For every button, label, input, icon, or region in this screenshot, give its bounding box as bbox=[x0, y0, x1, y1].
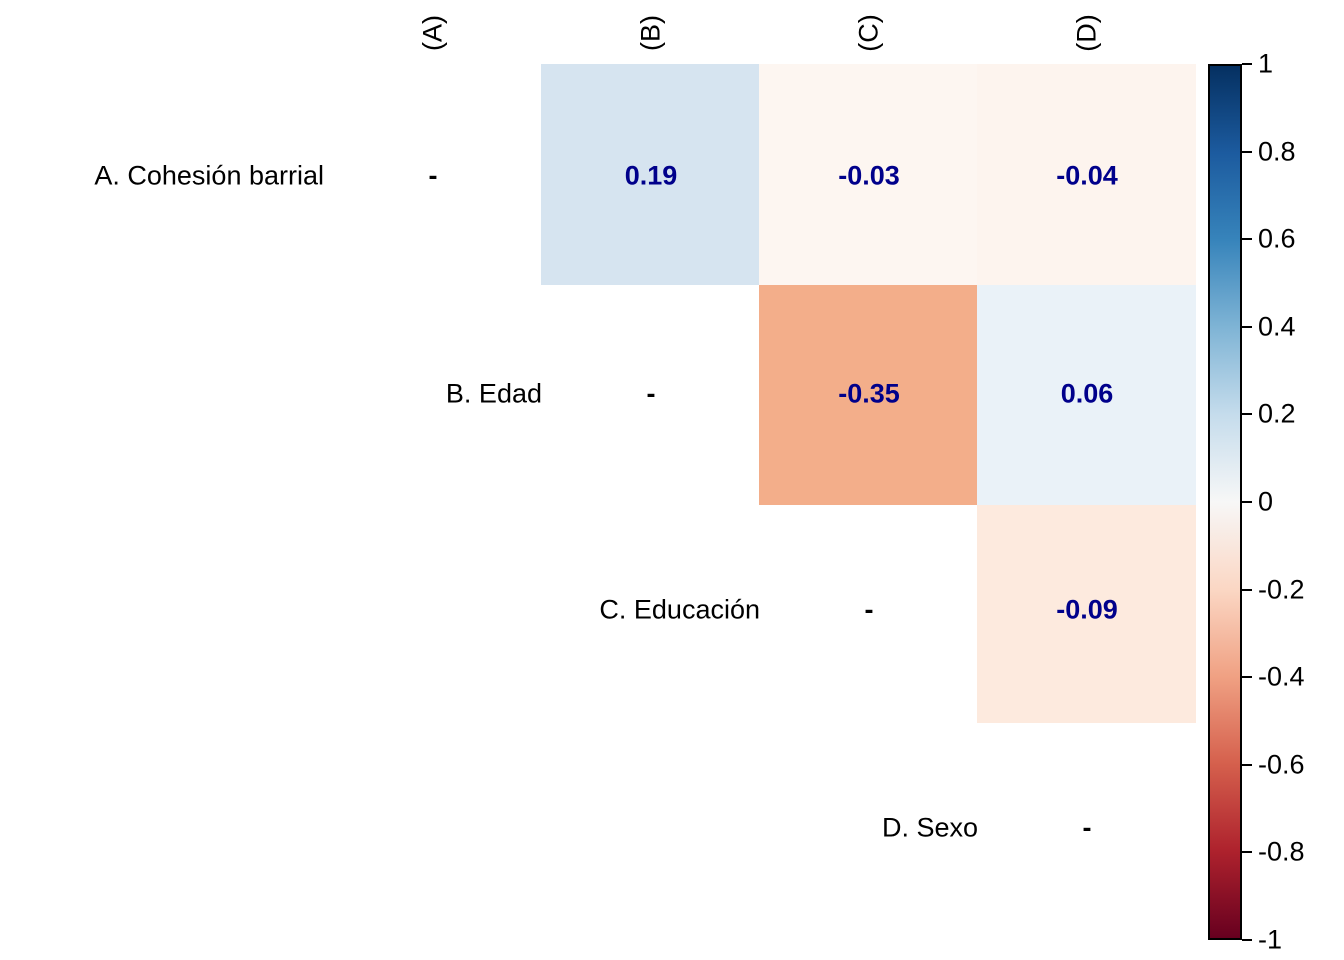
column-header-d: (D) bbox=[1072, 14, 1103, 51]
colorbar-tick-label: -0.4 bbox=[1258, 662, 1305, 693]
colorbar-tick-mark bbox=[1242, 589, 1252, 591]
row-label-d: D. Sexo bbox=[698, 813, 978, 844]
colorbar-tick-mark bbox=[1242, 413, 1252, 415]
row-label-b: B. Edad bbox=[262, 379, 542, 410]
correlation-matrix-figure: (A) (B) (C) (D) A. Cohesión barrial - 0.… bbox=[0, 0, 1344, 960]
colorbar-tick-label: 0.6 bbox=[1258, 224, 1296, 255]
colorbar-tick-mark bbox=[1242, 764, 1252, 766]
heatmap-value-a-b: 0.19 bbox=[625, 161, 678, 192]
colorbar-tick-label: -1 bbox=[1258, 925, 1282, 956]
colorbar-tick-mark bbox=[1242, 939, 1252, 941]
heatmap-value-b-d: 0.06 bbox=[1061, 379, 1114, 410]
colorbar-tick-mark bbox=[1242, 326, 1252, 328]
colorbar-tick-label: 0 bbox=[1258, 487, 1273, 518]
row-label-c: C. Educación bbox=[480, 595, 760, 626]
colorbar-tick-mark bbox=[1242, 851, 1252, 853]
colorbar-tick-label: 0.4 bbox=[1258, 311, 1296, 342]
colorbar-tick-label: -0.6 bbox=[1258, 749, 1305, 780]
colorbar-gradient bbox=[1208, 64, 1242, 940]
column-header-c: (C) bbox=[854, 14, 885, 51]
heatmap-value-a-c: -0.03 bbox=[838, 161, 900, 192]
diagonal-dash-c: - bbox=[865, 595, 874, 626]
colorbar-tick-mark bbox=[1242, 238, 1252, 240]
colorbar-tick-label: 1 bbox=[1258, 49, 1273, 80]
diagonal-dash-b: - bbox=[647, 379, 656, 410]
colorbar-tick-mark bbox=[1242, 501, 1252, 503]
colorbar-tick-label: 0.8 bbox=[1258, 136, 1296, 167]
colorbar-tick-mark bbox=[1242, 63, 1252, 65]
heatmap-value-c-d: -0.09 bbox=[1056, 595, 1118, 626]
colorbar bbox=[1208, 64, 1242, 940]
colorbar-tick-label: 0.2 bbox=[1258, 399, 1296, 430]
colorbar-tick-mark bbox=[1242, 676, 1252, 678]
diagonal-dash-d: - bbox=[1083, 813, 1092, 844]
colorbar-tick-label: -0.2 bbox=[1258, 574, 1305, 605]
row-label-a: A. Cohesión barrial bbox=[44, 161, 324, 192]
column-header-a: (A) bbox=[418, 15, 449, 51]
colorbar-tick-label: -0.8 bbox=[1258, 837, 1305, 868]
diagonal-dash-a: - bbox=[429, 161, 438, 192]
heatmap-value-b-c: -0.35 bbox=[838, 379, 900, 410]
column-header-b: (B) bbox=[636, 15, 667, 51]
heatmap-value-a-d: -0.04 bbox=[1056, 161, 1118, 192]
colorbar-tick-mark bbox=[1242, 151, 1252, 153]
